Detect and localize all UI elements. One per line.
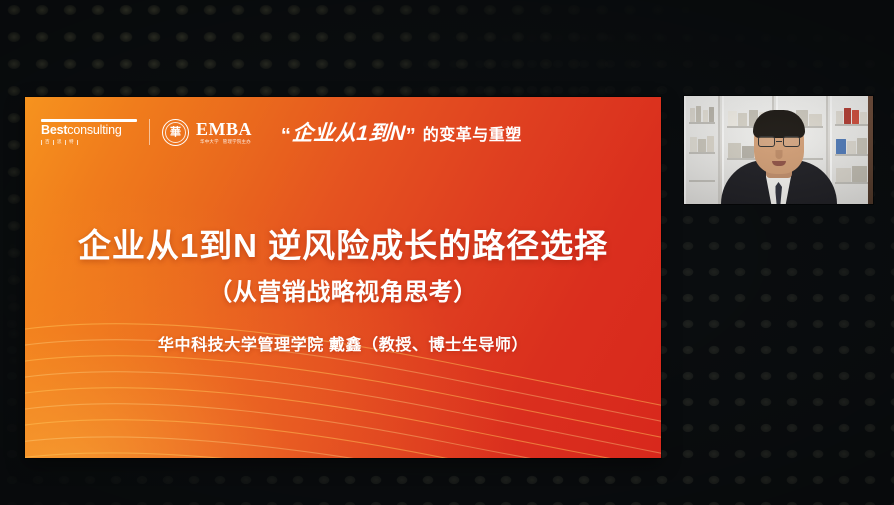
emba-sub-right: 管理学院主办 <box>223 139 251 145</box>
shared-slide[interactable]: Bestconsulting 百 思 特 華 EMBA 华中大学 <box>25 97 661 458</box>
tagline-quote-open: “ <box>281 126 291 146</box>
glasses-icon <box>758 136 800 147</box>
emba-sub-left: 华中大学 <box>200 139 219 145</box>
best-consulting-wordmark: Bestconsulting <box>41 124 137 137</box>
presenter-webcam-feed[interactable] <box>684 96 873 204</box>
bookshelf-cabinet <box>830 96 873 204</box>
emba-title: EMBA <box>196 120 255 138</box>
presenter-nose <box>775 150 782 159</box>
best-sub-char-0: 百 <box>45 139 50 145</box>
slide-presenter-line: 华中科技大学管理学院 戴鑫（教授、博士生导师） <box>25 331 661 355</box>
university-seal-icon: 華 <box>162 119 189 146</box>
emba-logo: 華 EMBA 华中大学 管理学院主办 <box>162 119 255 146</box>
best-sub-char-1: 思 <box>57 139 62 145</box>
tagline-rest: 的变革与重塑 <box>423 121 522 145</box>
emba-wordmark: EMBA 华中大学 管理学院主办 <box>196 120 255 145</box>
logo-top-bar <box>41 119 137 122</box>
slide-subtitle: （从营销战略视角思考） <box>25 272 661 307</box>
emba-subtitle: 华中大学 管理学院主办 <box>196 139 255 145</box>
tagline-quote-close: ” <box>406 126 416 146</box>
slide-title: 企业从1到N 逆风险成长的路径选择 <box>25 219 661 267</box>
broadcast-stage: Bestconsulting 百 思 特 華 EMBA 华中大学 <box>0 0 894 505</box>
tagline-highlight: 企业从1到N <box>291 117 407 147</box>
best-consulting-logo: Bestconsulting 百 思 特 <box>41 119 137 145</box>
presenter-hair <box>753 110 805 138</box>
slide-header: Bestconsulting 百 思 特 華 EMBA 华中大学 <box>41 111 645 153</box>
slide-tagline: “ 企业从1到N ” 的变革与重塑 <box>281 117 522 147</box>
logo-divider <box>149 119 150 145</box>
seal-glyph: 華 <box>170 127 181 138</box>
best-consulting-word-bold: Best <box>41 123 67 137</box>
bookshelf-cabinet <box>684 96 720 204</box>
best-consulting-word-light: consulting <box>67 123 121 137</box>
best-consulting-subtext: 百 思 特 <box>41 139 137 145</box>
webcam-side-wall <box>868 96 873 204</box>
best-sub-char-2: 特 <box>69 139 74 145</box>
